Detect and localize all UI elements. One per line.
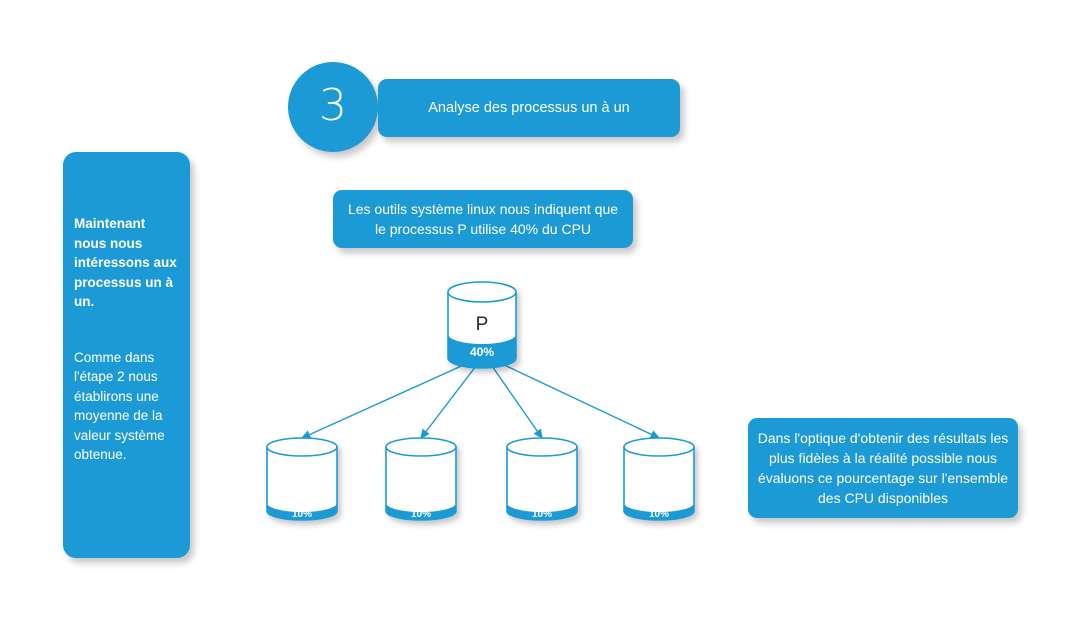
child-cylinder-1 <box>267 438 337 520</box>
callout-cpu-usage-text: Les outils système linux nous indiquent … <box>343 199 623 239</box>
slide-canvas: 3 Analyse des processus un à un Maintena… <box>0 0 1076 625</box>
child-cylinder-3-value: 10% <box>532 509 552 520</box>
step-number-label: 3 <box>319 84 347 128</box>
sidebar-spacer <box>74 312 179 348</box>
callout-cpu-distribution-text: Dans l'optique d'obtenir des résultats l… <box>756 428 1010 508</box>
step-number-badge: 3 <box>288 62 378 152</box>
child-cylinder-4 <box>624 438 694 520</box>
parent-cylinder-value: 40% <box>470 345 494 359</box>
callout-cpu-usage: Les outils système linux nous indiquent … <box>333 190 633 248</box>
connector-arrow-2 <box>421 366 476 438</box>
sidebar-paragraph-regular: Comme dans l'étape 2 nous établirons une… <box>74 348 179 465</box>
sidebar-paragraph-bold: Maintenant nous nous intéressons aux pro… <box>74 214 179 312</box>
child-cylinder-2 <box>386 438 456 520</box>
child-cylinder-1-value: 10% <box>292 509 312 520</box>
connector-arrows <box>302 363 659 438</box>
sidebar-note-panel: Maintenant nous nous intéressons aux pro… <box>63 152 190 558</box>
child-cylinder-3 <box>507 438 577 520</box>
connector-arrow-3 <box>492 366 542 438</box>
parent-cylinder-label: P <box>476 314 489 335</box>
connector-arrow-4 <box>500 363 659 438</box>
step-title-label: Analyse des processus un à un <box>428 100 630 116</box>
step-title-bar: Analyse des processus un à un <box>378 79 680 137</box>
connector-arrow-1 <box>302 363 468 438</box>
child-cylinder-4-value: 10% <box>649 509 669 520</box>
callout-cpu-distribution: Dans l'optique d'obtenir des résultats l… <box>748 418 1018 518</box>
child-cylinder-2-value: 10% <box>411 509 431 520</box>
parent-cylinder <box>448 282 516 368</box>
